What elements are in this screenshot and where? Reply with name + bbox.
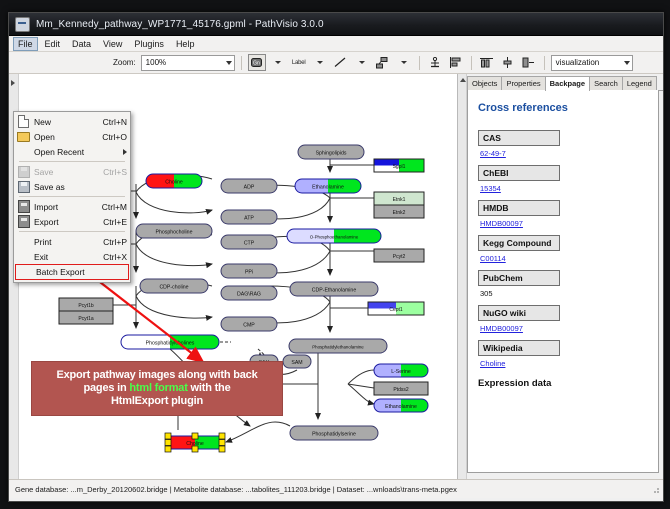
xref-header-cas: CAS <box>478 130 560 146</box>
metabolite-node-cmp[interactable]: CMP <box>221 317 277 331</box>
selection-handle[interactable] <box>192 433 198 439</box>
selection-handle[interactable] <box>192 446 198 452</box>
file-menu-dropdown[interactable]: New Ctrl+N Open Ctrl+O Open Recent <box>13 111 131 283</box>
pathvisio-window: Mm_Kennedy_pathway_WP1771_45176.gpml - P… <box>8 12 664 502</box>
menu-item-import[interactable]: Import Ctrl+M <box>14 199 130 214</box>
blank-icon-4 <box>19 266 32 278</box>
label-dropdown-icon[interactable] <box>311 54 329 71</box>
node-label: Etnk2 <box>393 210 406 216</box>
tab-legend[interactable]: Legend <box>622 76 657 90</box>
svg-text:Gn: Gn <box>253 60 260 66</box>
menu-item-open-recent[interactable]: Open Recent <box>14 144 130 159</box>
metabolite-node-ethanolamine[interactable]: Ethanolamine <box>295 179 361 193</box>
node-label: Ethanolamine <box>385 404 417 410</box>
tab-search[interactable]: Search <box>589 76 623 90</box>
metabolite-node-cdp-ethanolamine[interactable]: CDP-Ethanolamine <box>290 282 378 296</box>
export-icon <box>17 216 30 228</box>
menu-item-print-label: Print <box>34 237 97 247</box>
xref-header-kegg: Kegg Compound <box>478 235 560 251</box>
backpage-content: Cross references CAS 62-49-7 ChEBI 15354… <box>467 90 659 473</box>
metabolite-node-ctp[interactable]: CTP <box>221 235 277 249</box>
menu-item-exit[interactable]: Exit Ctrl+X <box>14 249 130 264</box>
xref-link-wikipedia[interactable]: Choline <box>480 359 505 368</box>
desktop-background: Mm_Kennedy_pathway_WP1771_45176.gpml - P… <box>0 0 670 509</box>
node-label: Etnk1 <box>393 197 406 203</box>
menu-file[interactable]: File <box>13 37 38 51</box>
menu-item-batch-export-label: Batch Export <box>36 267 125 277</box>
expression-data-title: Expression data <box>478 378 648 389</box>
node-label: CDP-Ethanolamine <box>312 288 357 294</box>
metabolite-node-choline-sel[interactable]: Choline <box>165 433 225 452</box>
selection-handle[interactable] <box>219 440 225 446</box>
menu-item-open-label: Open <box>34 132 96 142</box>
menu-item-export-label: Export <box>34 217 97 227</box>
line-tool-icon[interactable] <box>332 54 350 71</box>
node-label: CDP-choline <box>159 285 188 291</box>
menu-separator-3 <box>19 231 125 232</box>
expand-caret-icon[interactable] <box>11 80 15 86</box>
side-panel-tabs: Objects Properties Backpage Search Legen… <box>458 74 663 91</box>
gene-node-pcyt1b[interactable]: Pcyt1b <box>59 298 113 311</box>
xref-header-pubchem: PubChem <box>478 270 560 286</box>
distribute-tool-icon[interactable] <box>499 54 517 71</box>
menu-view[interactable]: View <box>98 37 127 51</box>
metabolite-node-phosphatidylserine[interactable]: Phosphatidylserine <box>290 426 378 440</box>
gene-node-pcyt1a[interactable]: Pcyt1a <box>59 311 113 324</box>
annotation-line-1: Export pathway images along with back <box>56 369 257 382</box>
selection-handle[interactable] <box>219 446 225 452</box>
metabolite-node-phosphocholine[interactable]: Phosphocholine <box>136 224 212 238</box>
menu-separator-2 <box>19 196 125 197</box>
visualization-value: visualization <box>556 58 600 67</box>
selection-handle[interactable] <box>165 433 171 439</box>
menu-item-import-label: Import <box>34 202 96 212</box>
xref-value-nugo: HMDB00097 <box>480 324 648 333</box>
menu-item-save-accel: Ctrl+S <box>97 167 127 177</box>
annotation-line-2c: with the <box>188 382 231 394</box>
xref-row-hmdb: HMDB HMDB00097 <box>478 200 648 228</box>
selection-handle[interactable] <box>165 440 171 446</box>
app-icon <box>15 17 30 32</box>
zoom-value: 100% <box>146 58 166 67</box>
side-panel: Objects Properties Backpage Search Legen… <box>458 74 663 479</box>
menu-item-open[interactable]: Open Ctrl+O <box>14 129 130 144</box>
xref-value-wikipedia: Choline <box>480 359 648 368</box>
node-label: Pcyt1a <box>78 316 94 322</box>
menubar: File Edit Data View Plugins Help <box>9 36 663 52</box>
menu-edit[interactable]: Edit <box>40 37 66 51</box>
annotation-banner: Export pathway images along with back pa… <box>31 361 283 416</box>
menu-item-export[interactable]: Export Ctrl+E <box>14 214 130 229</box>
annotation-line-3: HtmlExport plugin <box>111 395 203 408</box>
xref-header-nugo: NuGO wiki <box>478 305 560 321</box>
gene-node-pcyt2[interactable]: Pcyt2 <box>374 249 424 262</box>
menu-plugins[interactable]: Plugins <box>129 37 169 51</box>
menu-item-print[interactable]: Print Ctrl+P <box>14 234 130 249</box>
submenu-arrow-icon <box>123 149 127 155</box>
pathway-canvas[interactable]: CholinePhosphocholineCDP-cholinePhosphat… <box>9 74 458 479</box>
open-folder-icon <box>17 131 30 143</box>
node-label: Choline <box>165 180 183 186</box>
node-label: Sgpl1 <box>393 164 406 170</box>
gene-node-sgpl1[interactable]: Sgpl1 <box>374 159 424 172</box>
zoom-label: Zoom: <box>113 58 136 67</box>
xref-value-kegg: C00114 <box>480 254 648 263</box>
menu-help[interactable]: Help <box>171 37 200 51</box>
import-icon <box>17 201 30 213</box>
resize-grip-icon[interactable] <box>650 484 660 494</box>
xref-row-kegg: Kegg Compound C00114 <box>478 235 648 263</box>
annotation-highlight: html format <box>129 382 187 394</box>
node-label: Phosphocholine <box>156 230 193 236</box>
menu-item-save-as-label: Save as <box>34 182 121 192</box>
window-titlebar: Mm_Kennedy_pathway_WP1771_45176.gpml - P… <box>9 13 663 36</box>
line-dropdown-icon[interactable] <box>353 54 371 71</box>
menu-item-new-accel: Ctrl+N <box>97 117 127 127</box>
metabolite-node-adp[interactable]: ADP <box>221 179 277 193</box>
datanode-dropdown-icon[interactable] <box>269 54 287 71</box>
menu-item-exit-accel: Ctrl+X <box>97 252 127 262</box>
xref-value-chebi: 15354 <box>480 184 648 193</box>
menu-separator-1 <box>19 161 125 162</box>
metabolite-node-ethanolamine2[interactable]: Ethanolamine <box>374 399 428 412</box>
node-label: Phosphatidylserine <box>312 432 356 438</box>
anchor-tool-icon[interactable] <box>426 54 444 71</box>
blank-icon-3 <box>17 251 30 263</box>
node-label: O-Phosphoethanolamine <box>310 235 359 240</box>
gene-node-cept1[interactable]: Cept1 <box>368 302 424 315</box>
tab-properties[interactable]: Properties <box>501 76 545 90</box>
menu-item-export-accel: Ctrl+E <box>97 217 127 227</box>
toolbar-separator-2 <box>419 56 420 70</box>
stack-tool-icon[interactable] <box>478 54 496 71</box>
node-label: Pcyt2 <box>393 254 406 260</box>
statusbar-text: Gene database: ...m_Derby_20120602.bridg… <box>15 485 457 494</box>
metabolite-node-o-phosphoethanolamine[interactable]: O-Phosphoethanolamine <box>287 229 381 243</box>
xref-row-cas: CAS 62-49-7 <box>478 130 648 158</box>
blank-icon-2 <box>17 236 30 248</box>
toolbar-separator-3 <box>471 56 472 70</box>
node-label: ADP <box>244 185 255 191</box>
metabolite-node-ppi[interactable]: PPi <box>221 264 277 278</box>
metabolite-node-choline[interactable]: Choline <box>146 174 202 188</box>
label-tool-text: Label <box>292 60 306 66</box>
xref-value-pubchem: 305 <box>480 289 648 298</box>
statusbar: Gene database: ...m_Derby_20120602.bridg… <box>9 479 663 498</box>
menu-item-open-accel: Ctrl+O <box>96 132 127 142</box>
blank-icon <box>17 146 30 158</box>
visualization-combo[interactable]: visualization <box>551 55 633 71</box>
toolbar-separator-4 <box>544 56 545 70</box>
chevron-down-icon-2 <box>624 61 630 65</box>
xref-row-nugo: NuGO wiki HMDB00097 <box>478 305 648 333</box>
xref-row-chebi: ChEBI 15354 <box>478 165 648 193</box>
xref-header-hmdb: HMDB <box>478 200 560 216</box>
annotation-line-2a: pages in <box>83 382 129 394</box>
node-label: SAM <box>291 360 302 366</box>
gene-node-etnk1[interactable]: Etnk1 <box>374 192 424 205</box>
gene-node-etnk2[interactable]: Etnk2 <box>374 205 424 218</box>
tab-backpage[interactable]: Backpage <box>545 76 590 91</box>
node-label: CMP <box>243 323 255 329</box>
cross-references-title: Cross references <box>478 102 648 114</box>
zoom-combo[interactable]: 100% <box>141 55 235 71</box>
menu-item-batch-export[interactable]: Batch Export <box>15 264 129 280</box>
align-tool-icon[interactable] <box>447 54 465 71</box>
selection-handle[interactable] <box>165 446 171 452</box>
shape-dropdown-icon[interactable] <box>395 54 413 71</box>
xref-value-hmdb: HMDB00097 <box>480 219 648 228</box>
node-label: L-Serine <box>391 369 411 375</box>
xref-link-cas[interactable]: 62-49-7 <box>480 149 506 158</box>
node-label: Phosphatidylcholines <box>146 341 195 347</box>
metabolite-node-dagrag[interactable]: DAG\RAG <box>221 286 277 300</box>
metabolite-node-l-serine[interactable]: L-Serine <box>374 364 428 377</box>
xref-header-wikipedia: Wikipedia <box>478 340 560 356</box>
tab-objects[interactable]: Objects <box>467 76 502 90</box>
node-label: Cept1 <box>389 307 403 313</box>
xref-link-hmdb[interactable]: HMDB00097 <box>480 219 523 228</box>
xref-row-pubchem: PubChem 305 <box>478 270 648 298</box>
menu-item-save: Save Ctrl+S <box>14 164 130 179</box>
metabolite-node-phosphatidylcholines[interactable]: Phosphatidylcholines <box>121 335 219 349</box>
xref-link-chebi[interactable]: 15354 <box>480 184 501 193</box>
metabolite-node-cdp-choline[interactable]: CDP-choline <box>140 279 208 293</box>
node-label: Phosphatidylethanolamine <box>312 345 364 350</box>
collapse-caret-icon[interactable] <box>460 78 466 82</box>
metabolite-node-sam[interactable]: SAM <box>283 355 311 368</box>
node-label: Ethanolamine <box>312 185 344 191</box>
metabolite-node-phosphatidylethanolamine[interactable]: Phosphatidylethanolamine <box>289 339 387 353</box>
node-label: Sphingolipids <box>316 151 347 157</box>
selection-handle[interactable] <box>219 433 225 439</box>
metabolite-node-atp[interactable]: ATP <box>221 210 277 224</box>
metabolite-node-sphingolipids[interactable]: Sphingolipids <box>298 145 364 159</box>
toolbar: Zoom: 100% Gn Label <box>9 52 663 74</box>
xref-value-cas: 62-49-7 <box>480 149 648 158</box>
menu-item-open-recent-label: Open Recent <box>34 147 119 157</box>
annotation-line-2: pages in html format with the <box>83 382 230 395</box>
gene-node-ptdss2[interactable]: Ptdss2 <box>374 382 428 395</box>
node-label: ATP <box>244 216 254 222</box>
menu-item-import-accel: Ctrl+M <box>96 202 127 212</box>
menu-item-save-as[interactable]: Save as <box>14 179 130 194</box>
node-label: CTP <box>244 241 255 247</box>
menu-data[interactable]: Data <box>67 37 96 51</box>
save-icon <box>17 166 30 178</box>
node-label: Ptdss2 <box>393 387 409 393</box>
node-label: Pcyt1b <box>78 303 94 309</box>
menu-item-new-label: New <box>34 117 97 127</box>
menu-item-print-accel: Ctrl+P <box>97 237 127 247</box>
datanode-tool-icon[interactable]: Gn <box>248 54 266 71</box>
group-tool-icon[interactable] <box>520 54 538 71</box>
node-label: PPi <box>245 270 253 276</box>
xref-row-wikipedia: Wikipedia Choline <box>478 340 648 368</box>
toolbar-separator <box>241 56 242 70</box>
menu-item-exit-label: Exit <box>34 252 97 262</box>
menu-item-save-label: Save <box>34 167 97 177</box>
node-label: DAG\RAG <box>237 292 261 298</box>
xref-link-nugo[interactable]: HMDB00097 <box>480 324 523 333</box>
chevron-down-icon <box>226 61 232 65</box>
xref-header-chebi: ChEBI <box>478 165 560 181</box>
xref-link-kegg[interactable]: C00114 <box>480 254 506 263</box>
side-panel-gutter <box>458 74 467 479</box>
label-tool-icon[interactable]: Label <box>290 54 308 71</box>
new-document-icon <box>17 116 30 128</box>
window-title: Mm_Kennedy_pathway_WP1771_45176.gpml - P… <box>36 19 324 30</box>
shape-tool-icon[interactable] <box>374 54 392 71</box>
main-body: CholinePhosphocholineCDP-cholinePhosphat… <box>9 74 663 479</box>
menu-item-new[interactable]: New Ctrl+N <box>14 114 130 129</box>
save-as-icon <box>17 181 30 193</box>
